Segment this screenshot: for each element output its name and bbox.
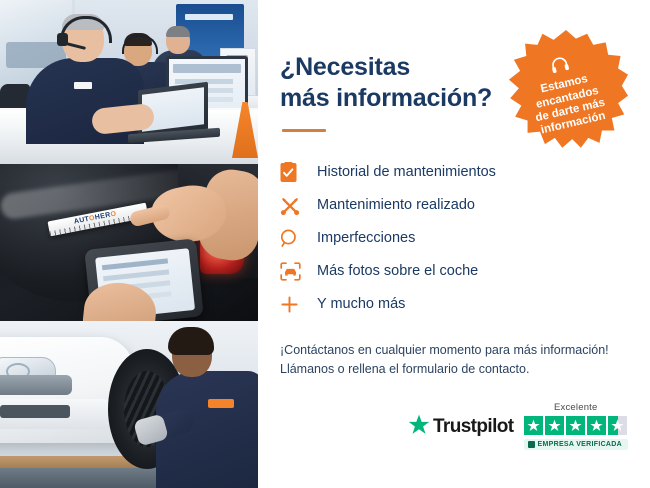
feature-item-much-more: Y mucho más <box>280 288 628 321</box>
verified-label: EMPRESA VERIFICADA <box>538 441 622 448</box>
technician-hair <box>168 327 214 355</box>
star-filled <box>545 416 564 435</box>
title-divider <box>282 129 326 132</box>
car-grille <box>0 375 72 395</box>
maintenance-history-icon <box>280 162 306 184</box>
feature-label: Mantenimiento realizado <box>317 198 475 213</box>
star-filled <box>566 416 585 435</box>
feature-item-maintenance-done: Mantenimiento realizado <box>280 189 628 222</box>
headline-line-2: más información? <box>280 83 510 114</box>
plus-icon <box>280 294 306 316</box>
verified-check-icon <box>528 441 535 448</box>
feature-item-car-photos: Más fotos sobre el coche <box>280 255 628 288</box>
technician-uniform-logo <box>208 399 234 408</box>
feature-item-imperfections: Imperfecciones <box>280 222 628 255</box>
tools-icon <box>280 195 306 217</box>
content-panel: ¿Necesitas más información? Estamos enca… <box>258 0 650 488</box>
verified-company-badge: EMPRESA VERIFICADA <box>524 439 628 450</box>
trustpilot-wordmark: Trustpilot <box>433 416 514 438</box>
wheel-inspection-photo <box>0 321 258 488</box>
feature-list: Historial de mantenimientos M <box>280 156 628 321</box>
support-badge: Estamos encantados de darte más informac… <box>504 30 628 154</box>
information-banner: AUTOHERO <box>0 0 650 488</box>
contact-line-1: ¡Contáctanos en cualquier momento para m… <box>280 341 628 360</box>
photo-column: AUTOHERO <box>0 0 258 488</box>
agent-one-name-badge <box>74 82 92 89</box>
trustpilot-rating: Excelente <box>524 402 628 450</box>
feature-label: Y mucho más <box>317 297 405 312</box>
headline-line-1: ¿Necesitas <box>280 52 510 83</box>
star-half <box>608 416 627 435</box>
support-badge-text: Estamos encantados de darte más informac… <box>512 67 625 142</box>
trustpilot-star-icon <box>408 414 430 440</box>
star-filled <box>587 416 606 435</box>
call-center-agents-photo <box>0 0 258 164</box>
magnifier-icon <box>280 228 306 250</box>
agent-three-hair <box>166 26 190 37</box>
trustpilot-rating-label: Excelente <box>554 402 598 413</box>
star-filled <box>524 416 543 435</box>
feature-label: Historial de mantenimientos <box>317 165 496 180</box>
trustpilot-widget[interactable]: Trustpilot Excelente <box>408 402 628 450</box>
headset-icon <box>549 55 571 79</box>
car-photo-frame-icon <box>280 261 306 283</box>
trustpilot-stars <box>524 416 627 435</box>
contact-line-2: Llámanos o rellena el formulario de cont… <box>280 360 628 379</box>
feature-label: Imperfecciones <box>317 231 415 246</box>
feature-label: Más fotos sobre el coche <box>317 264 478 279</box>
feature-item-maintenance-history: Historial de mantenimientos <box>280 156 628 189</box>
page-title: ¿Necesitas más información? <box>280 52 510 113</box>
contact-text: ¡Contáctanos en cualquier momento para m… <box>280 341 628 380</box>
car-inspection-ruler-photo: AUTOHERO <box>0 164 258 321</box>
trustpilot-logo: Trustpilot <box>408 414 514 450</box>
car-bumper <box>0 399 120 429</box>
